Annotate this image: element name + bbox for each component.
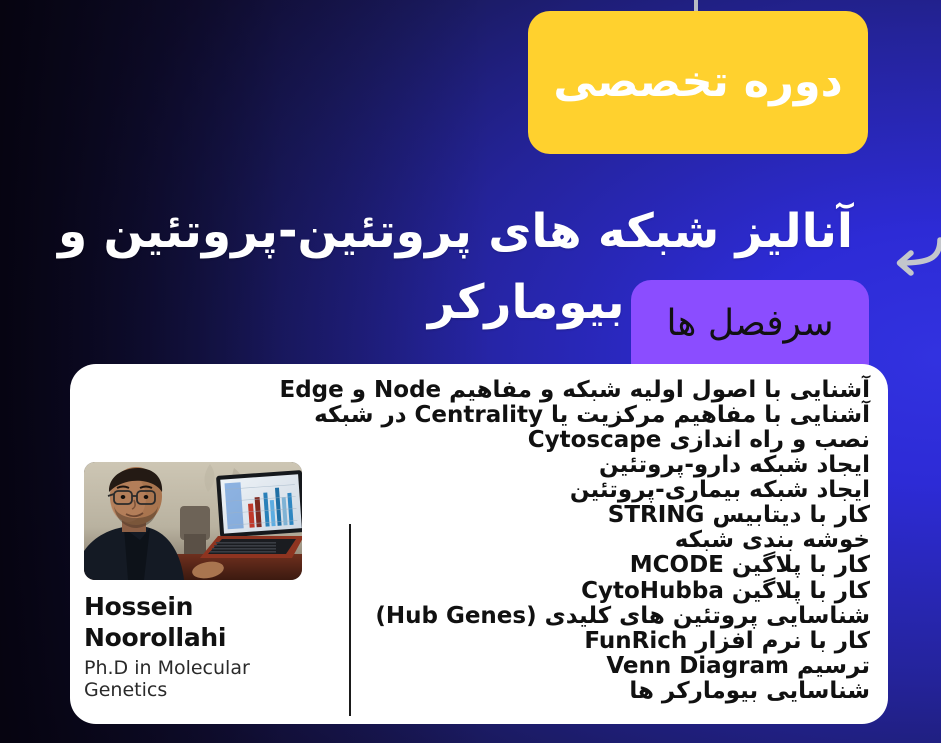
list-item: ایجاد شبکه دارو-پروتئین — [270, 453, 870, 478]
presenter-block: Hossein Noorollahi Ph.D in Molecular Gen… — [84, 462, 329, 701]
specialized-course-badge: دوره تخصصی — [528, 11, 868, 154]
topic-list: آشنایی با اصول اولیه شبکه و مفاهیم Node … — [270, 378, 870, 704]
list-item: نصب و راه اندازی Cytoscape — [270, 428, 870, 453]
list-item: کار با دیتابیس STRING — [270, 503, 870, 528]
presenter-photo — [84, 462, 302, 580]
presenter-name-line-2: Noorollahi — [84, 623, 329, 654]
page-title-line-1: آنالیز شبکه های پروتئین-پروتئین و — [53, 196, 853, 267]
promo-slide: دوره تخصصی آنالیز شبکه های پروتئین-پروتئ… — [0, 0, 941, 743]
presenter-role-line-2: Genetics — [84, 679, 329, 701]
syllabus-tab-label: سرفصل ها — [666, 306, 833, 342]
list-item: آشنایی با مفاهیم مرکزیت یا Centrality در… — [270, 403, 870, 428]
list-item: شناسایی بیومارکر ها — [270, 679, 870, 704]
list-item: شناسایی پروتئین های کلیدی (Hub Genes) — [270, 604, 870, 629]
list-item: کار با پلاگین MCODE — [270, 553, 870, 578]
syllabus-card: آشنایی با اصول اولیه شبکه و مفاهیم Node … — [70, 364, 888, 724]
list-item: کار با پلاگین CytoHubba — [270, 579, 870, 604]
presenter-role: Ph.D in Molecular Genetics — [84, 657, 329, 701]
curved-left-arrow-icon — [879, 232, 941, 294]
list-item: ترسیم Venn Diagram — [270, 654, 870, 679]
list-item: آشنایی با اصول اولیه شبکه و مفاهیم Node … — [270, 378, 870, 403]
syllabus-tab-badge[interactable]: سرفصل ها — [631, 280, 869, 368]
list-item: کار با نرم افزار FunRich — [270, 629, 870, 654]
presenter-name-line-1: Hossein — [84, 592, 329, 623]
specialized-course-label: دوره تخصصی — [553, 61, 842, 104]
list-item: خوشه بندی شبکه — [270, 528, 870, 553]
presenter-role-line-1: Ph.D in Molecular — [84, 657, 329, 679]
list-item: ایجاد شبکه بیماری-پروتئین — [270, 478, 870, 503]
presenter-name: Hossein Noorollahi — [84, 592, 329, 653]
vertical-divider — [349, 524, 351, 716]
